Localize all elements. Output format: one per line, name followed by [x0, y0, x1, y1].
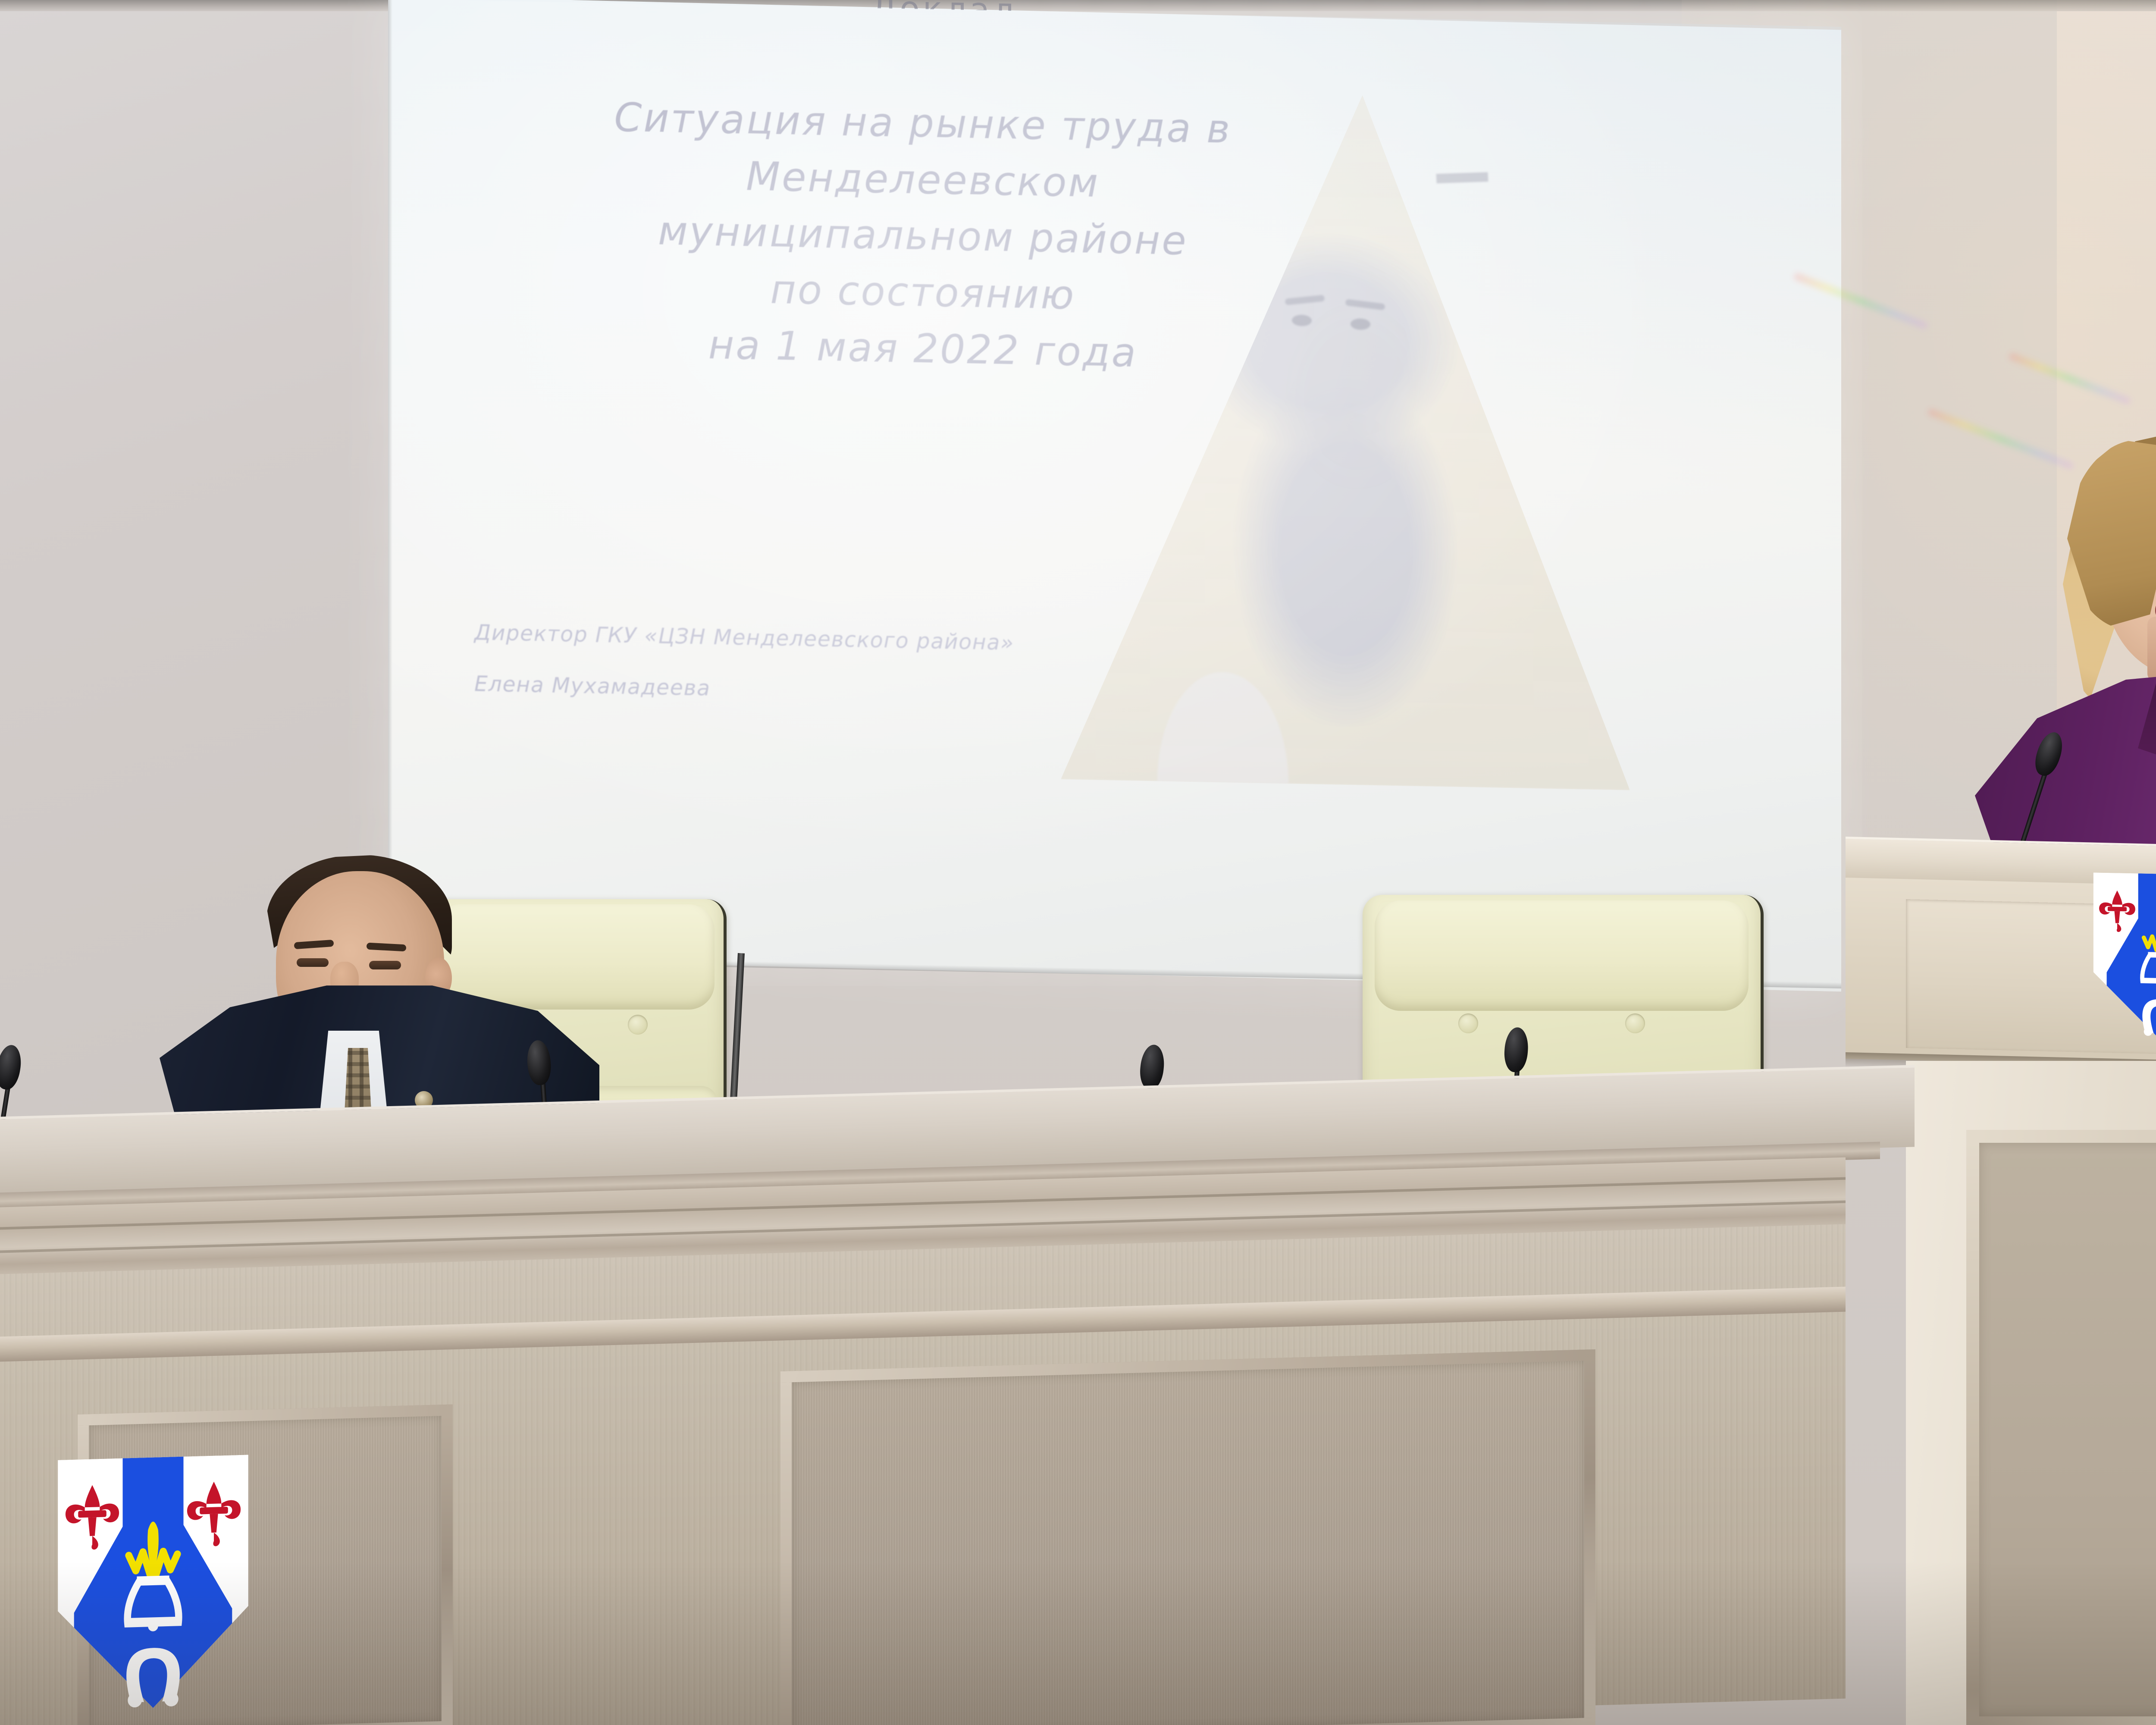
person-speaker — [1975, 414, 2156, 897]
table-raised-panel-center — [780, 1349, 1595, 1725]
slide-presenter-name: Елена Мухамадеева — [474, 673, 1337, 712]
coat-of-arms-podium — [2089, 870, 2156, 1043]
slide-title: Ситуация на рынке труда в Менделеевском … — [470, 87, 1376, 386]
speaker-podium-raised-panel — [1966, 1130, 2156, 1725]
official-eye-left — [297, 958, 329, 967]
ceiling-edge — [0, 0, 2156, 11]
coat-of-arms-table — [52, 1450, 254, 1715]
conference-hall-photo: Доклад Ситуация на рынке труда в Менделе… — [0, 0, 2156, 1725]
projection-screen: Доклад Ситуация на рынке труда в Менделе… — [388, 0, 1841, 991]
official-eye-right — [369, 961, 401, 969]
speaker-neck — [2147, 617, 2156, 681]
slide-cutoff-text: Доклад — [871, 0, 1018, 11]
